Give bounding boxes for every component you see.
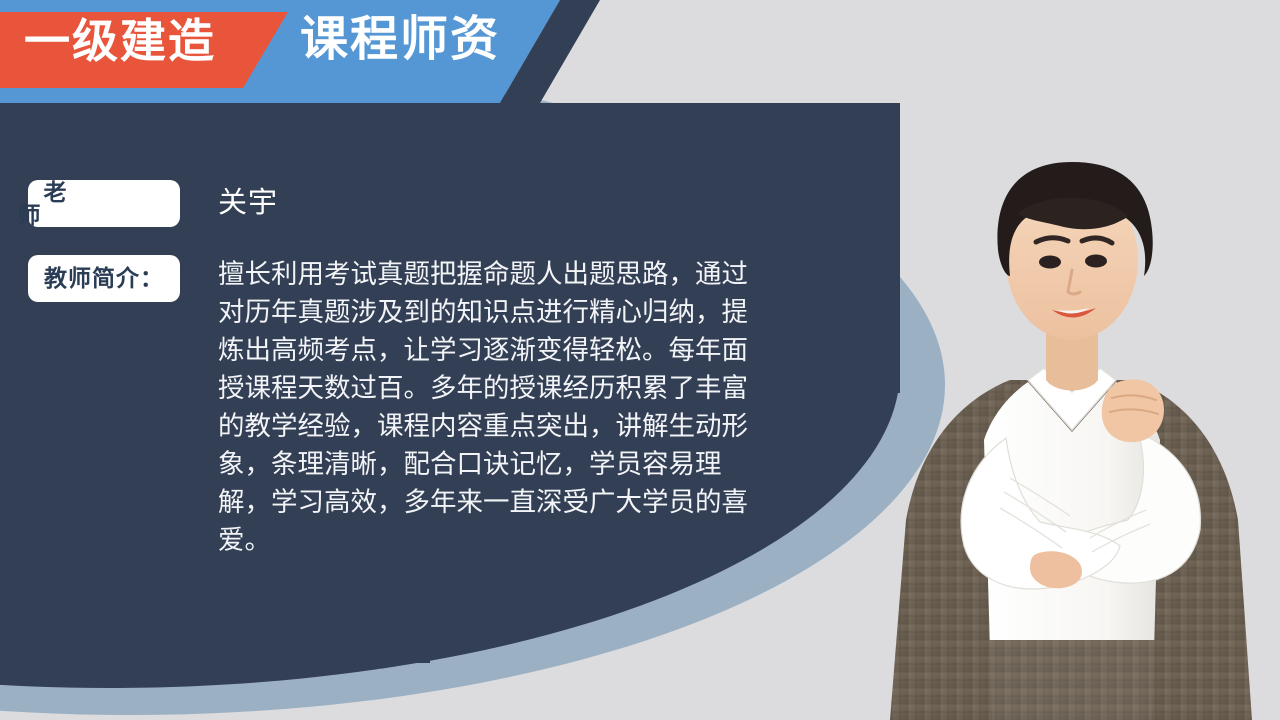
banner-secondary-title: 课程师资	[300, 16, 500, 64]
label-teacher: 老 师	[28, 180, 180, 227]
banner-primary-title: 一级建造	[24, 18, 216, 64]
label-teacher-bio: 教师简介：	[28, 255, 180, 302]
value-teacher-name: 关宇	[218, 180, 278, 227]
value-teacher-bio: 擅长利用考试真题把握命题人出题思路，通过对历年真题涉及到的知识点进行精心归纳，提…	[218, 255, 758, 559]
instructor-portrait	[860, 80, 1280, 720]
content-area: 老 师 关宇 教师简介： 擅长利用考试真题把握命题人出题思路，通过对历年真题涉及…	[0, 110, 900, 720]
portrait-lower-vest	[980, 640, 1168, 720]
field-row-bio: 教师简介： 擅长利用考试真题把握命题人出题思路，通过对历年真题涉及到的知识点进行…	[28, 255, 758, 559]
portrait-body-group	[890, 162, 1252, 720]
portrait-eye-left	[1039, 256, 1061, 269]
field-row-teacher: 老 师 关宇	[28, 180, 278, 227]
portrait-eye-right	[1085, 255, 1107, 268]
slide-root: 一级建造 课程师资 老 师 关宇 教师简介： 擅长利用考试真题把握命题人出题思路…	[0, 0, 1280, 720]
